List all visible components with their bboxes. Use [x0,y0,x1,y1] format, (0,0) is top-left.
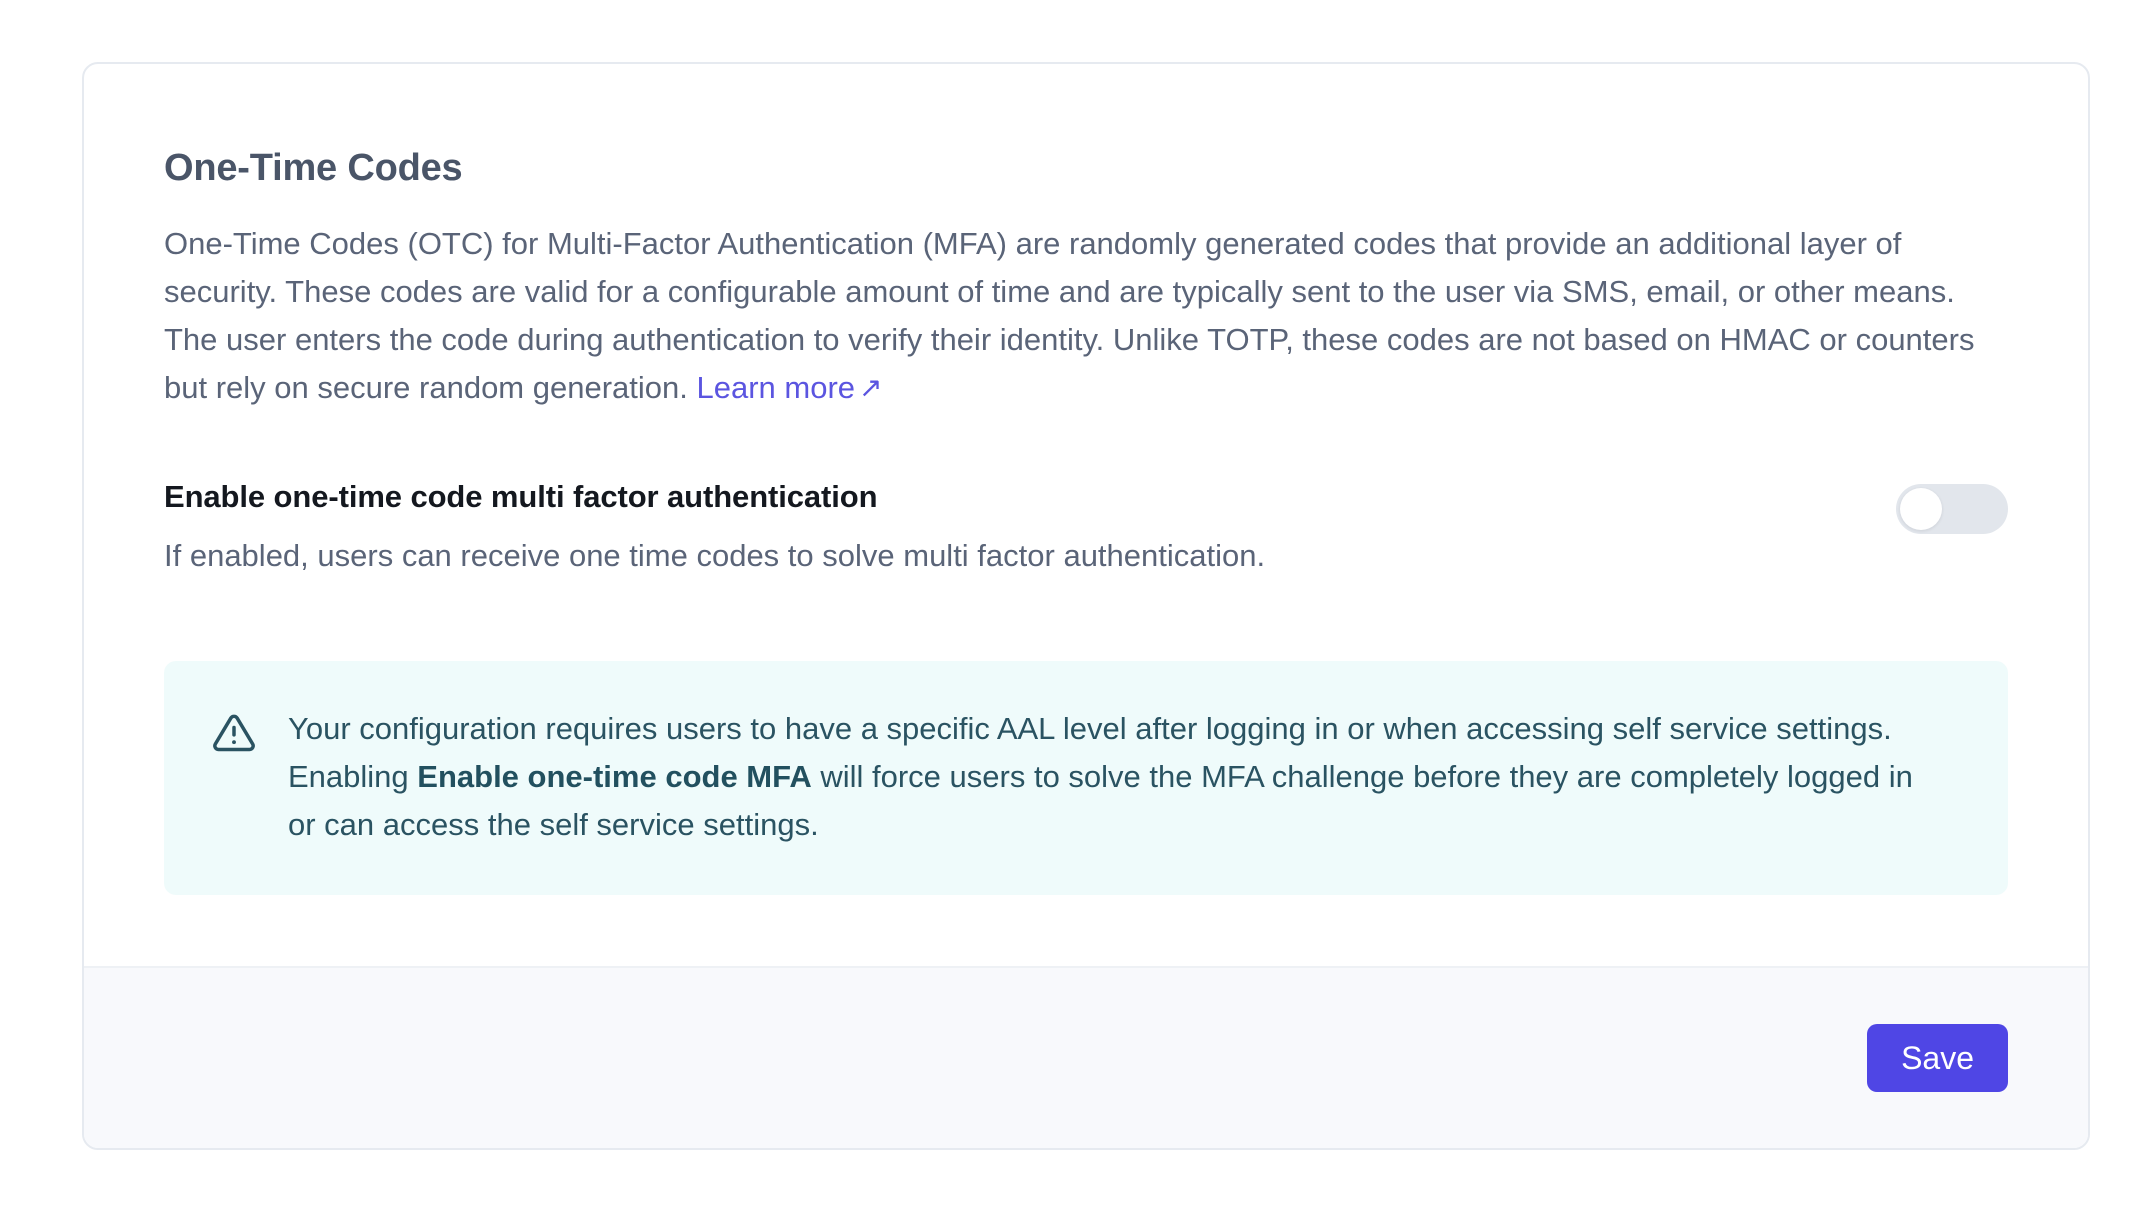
page-root: One-Time Codes One-Time Codes (OTC) for … [0,0,2146,1218]
enable-otc-mfa-toggle[interactable] [1896,484,2008,534]
warning-triangle-icon [212,711,256,755]
setting-texts: Enable one-time code multi factor authen… [164,478,1856,577]
setting-label: Enable one-time code multi factor authen… [164,478,1856,517]
section-description-text: One-Time Codes (OTC) for Multi-Factor Au… [164,226,1974,405]
setting-sublabel: If enabled, users can receive one time c… [164,536,1856,576]
aal-warning-alert: Your configuration requires users to hav… [164,661,2008,895]
arrow-up-right-icon: ↗ [859,374,882,402]
card-body: One-Time Codes One-Time Codes (OTC) for … [84,64,2088,966]
one-time-codes-settings-card: One-Time Codes One-Time Codes (OTC) for … [82,62,2090,1150]
toggle-knob [1900,488,1942,530]
learn-more-label: Learn more [696,370,855,405]
learn-more-link[interactable]: Learn more↗ [696,370,882,405]
enable-otc-mfa-setting-row: Enable one-time code multi factor authen… [164,478,2008,577]
card-footer: Save [84,966,2088,1148]
alert-text-bold: Enable one-time code MFA [417,759,811,794]
section-description: One-Time Codes (OTC) for Multi-Factor Au… [164,220,2004,412]
page-title: One-Time Codes [164,146,2008,192]
alert-message: Your configuration requires users to hav… [288,705,1948,849]
save-button[interactable]: Save [1867,1024,2008,1092]
